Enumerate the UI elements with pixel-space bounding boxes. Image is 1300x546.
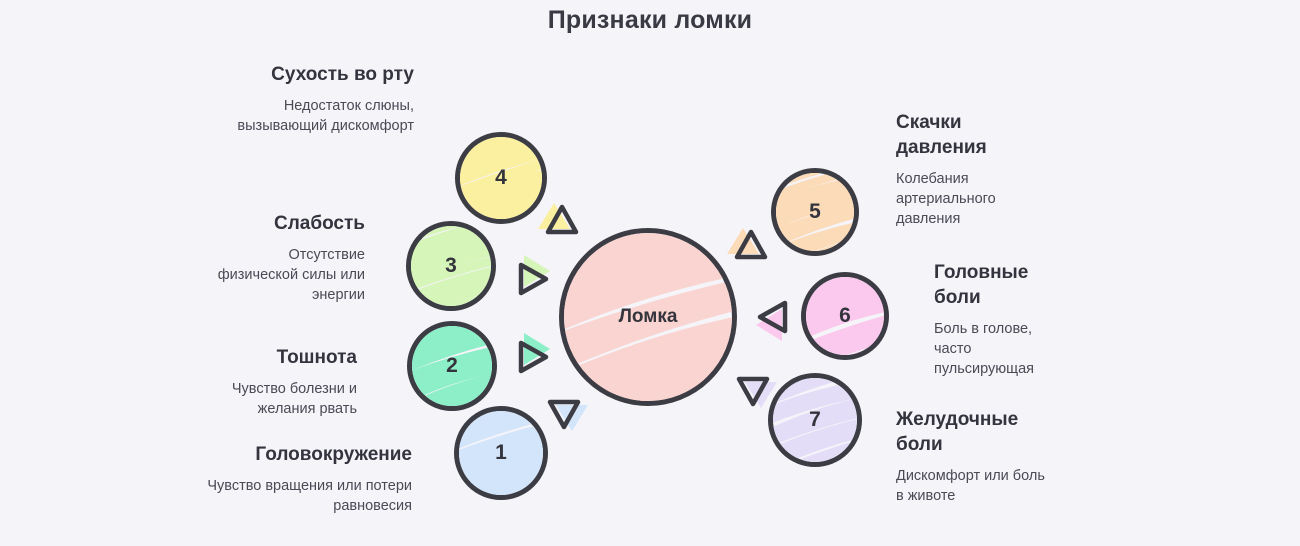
node-number-1: 1 [495, 441, 507, 465]
center-circle[interactable]: Ломка [559, 228, 737, 406]
marker-right-green [512, 258, 554, 300]
marker-left-pink [752, 296, 794, 338]
label-block-blood-pressure-spikes: Скачки давленияКолебания артериального д… [896, 110, 1026, 229]
label-desc-dizziness: Чувство вращения или потери равновесия [196, 476, 412, 516]
label-title-blood-pressure-spikes: Скачки давления [896, 110, 1026, 160]
label-desc-dry-mouth: Недостаток слюны, вызывающий дискомфорт [232, 96, 414, 136]
marker-up-peach [730, 224, 772, 266]
infographic-canvas: Признаки ломки 1234567 Ломка Сухость во … [0, 0, 1300, 546]
node-circle-5[interactable]: 5 [771, 168, 859, 256]
center-label: Ломка [619, 306, 678, 328]
label-title-stomach-pain: Желудочные боли [896, 407, 1046, 457]
label-title-nausea: Тошнота [200, 345, 357, 370]
node-number-4: 4 [495, 166, 507, 190]
node-number-3: 3 [445, 254, 457, 278]
label-desc-stomach-pain: Дискомфорт или боль в животе [896, 466, 1046, 506]
label-block-stomach-pain: Желудочные болиДискомфорт или боль в жив… [896, 407, 1046, 506]
marker-down-lilac [732, 370, 774, 412]
label-title-headaches: Головные боли [934, 260, 1059, 310]
label-block-dry-mouth: Сухость во ртуНедостаток слюны, вызывающ… [232, 62, 414, 136]
node-circle-1[interactable]: 1 [454, 406, 548, 500]
node-number-2: 2 [446, 354, 458, 378]
marker-right-mint [512, 336, 554, 378]
node-circle-3[interactable]: 3 [406, 221, 496, 311]
label-title-dizziness: Головокружение [196, 442, 412, 467]
label-title-dry-mouth: Сухость во рту [232, 62, 414, 87]
node-number-6: 6 [839, 304, 851, 328]
label-desc-nausea: Чувство болезни и желания рвать [200, 379, 357, 419]
page-title: Признаки ломки [0, 6, 1300, 35]
label-title-weakness: Слабость [210, 211, 365, 236]
label-block-weakness: СлабостьОтсутствие физической силы или э… [210, 211, 365, 305]
label-desc-weakness: Отсутствие физической силы или энергии [210, 245, 365, 305]
label-desc-headaches: Боль в голове, часто пульсирующая [934, 319, 1059, 379]
label-block-nausea: ТошнотаЧувство болезни и желания рвать [200, 345, 357, 419]
node-circle-6[interactable]: 6 [801, 272, 889, 360]
node-circle-2[interactable]: 2 [407, 321, 497, 411]
node-number-7: 7 [809, 408, 821, 432]
label-block-dizziness: ГоловокружениеЧувство вращения или потер… [196, 442, 412, 516]
node-number-5: 5 [809, 200, 821, 224]
label-desc-blood-pressure-spikes: Колебания артериального давления [896, 169, 1026, 229]
label-block-headaches: Головные болиБоль в голове, часто пульси… [934, 260, 1059, 379]
node-circle-4[interactable]: 4 [455, 132, 547, 224]
node-circle-7[interactable]: 7 [768, 373, 862, 467]
